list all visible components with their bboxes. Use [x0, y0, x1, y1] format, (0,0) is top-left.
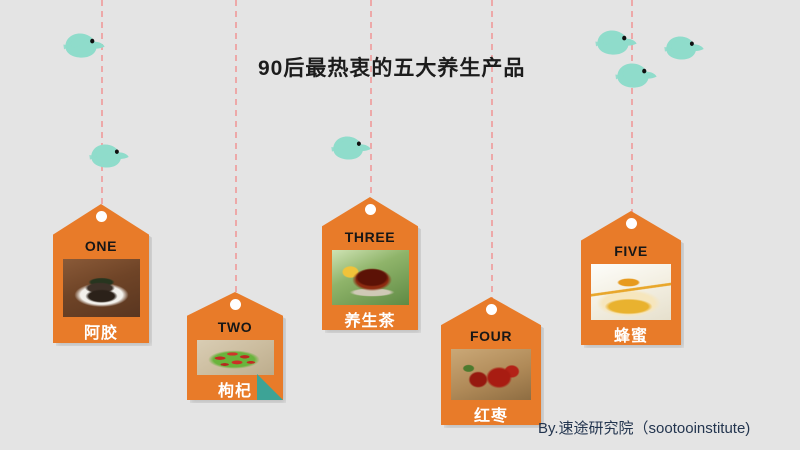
tag-product-label: 红枣 [474, 409, 508, 425]
bird-icon-5 [663, 31, 705, 63]
tag-product-label: 阿胶 [84, 326, 118, 342]
tag-hole-3 [365, 204, 376, 215]
bird-icon-3 [330, 131, 372, 163]
bird-icon-6 [614, 58, 658, 91]
product-tag-one[interactable]: ONE阿胶 [53, 204, 149, 343]
honey-photo [591, 264, 671, 320]
tag-product-label: 蜂蜜 [614, 329, 648, 345]
infographic-canvas: 90后最热衷的五大养生产品 ONE阿胶TWO枸杞THREE养生茶FOUR红枣FI… [0, 0, 800, 450]
tag-number-label: ONE [85, 239, 117, 253]
hanging-string-3 [370, 0, 372, 205]
product-tag-five[interactable]: FIVE蜂蜜 [581, 211, 681, 345]
page-title: 90后最热衷的五大养生产品 [258, 52, 525, 82]
red-dates-photo [451, 349, 531, 400]
ejiao-photo [63, 259, 140, 317]
tag-number-label: FOUR [470, 329, 512, 343]
tag-product-label: 养生茶 [344, 314, 395, 330]
tag-product-label: 枸杞 [218, 384, 252, 400]
tag-hole-1 [96, 211, 107, 222]
product-tag-four[interactable]: FOUR红枣 [441, 297, 541, 425]
folded-corner-decoration [257, 374, 283, 400]
tag-hole-2 [230, 299, 241, 310]
tag-hole-5 [626, 218, 637, 229]
tag-number-label: TWO [218, 320, 252, 334]
product-tag-three[interactable]: THREE养生茶 [322, 197, 418, 330]
bird-icon-4 [594, 25, 638, 58]
tag-number-label: THREE [345, 230, 395, 244]
tag-hole-4 [486, 304, 497, 315]
goji-berries-photo [197, 340, 274, 375]
tag-number-label: FIVE [614, 244, 648, 258]
footer-credit: By.速途研究院（sootooinstitute) [538, 417, 750, 438]
health-tea-photo [332, 250, 409, 305]
hanging-string-4 [491, 0, 493, 305]
bird-icon-2 [88, 139, 130, 171]
bird-icon-1 [62, 28, 106, 61]
hanging-string-2 [235, 0, 237, 300]
